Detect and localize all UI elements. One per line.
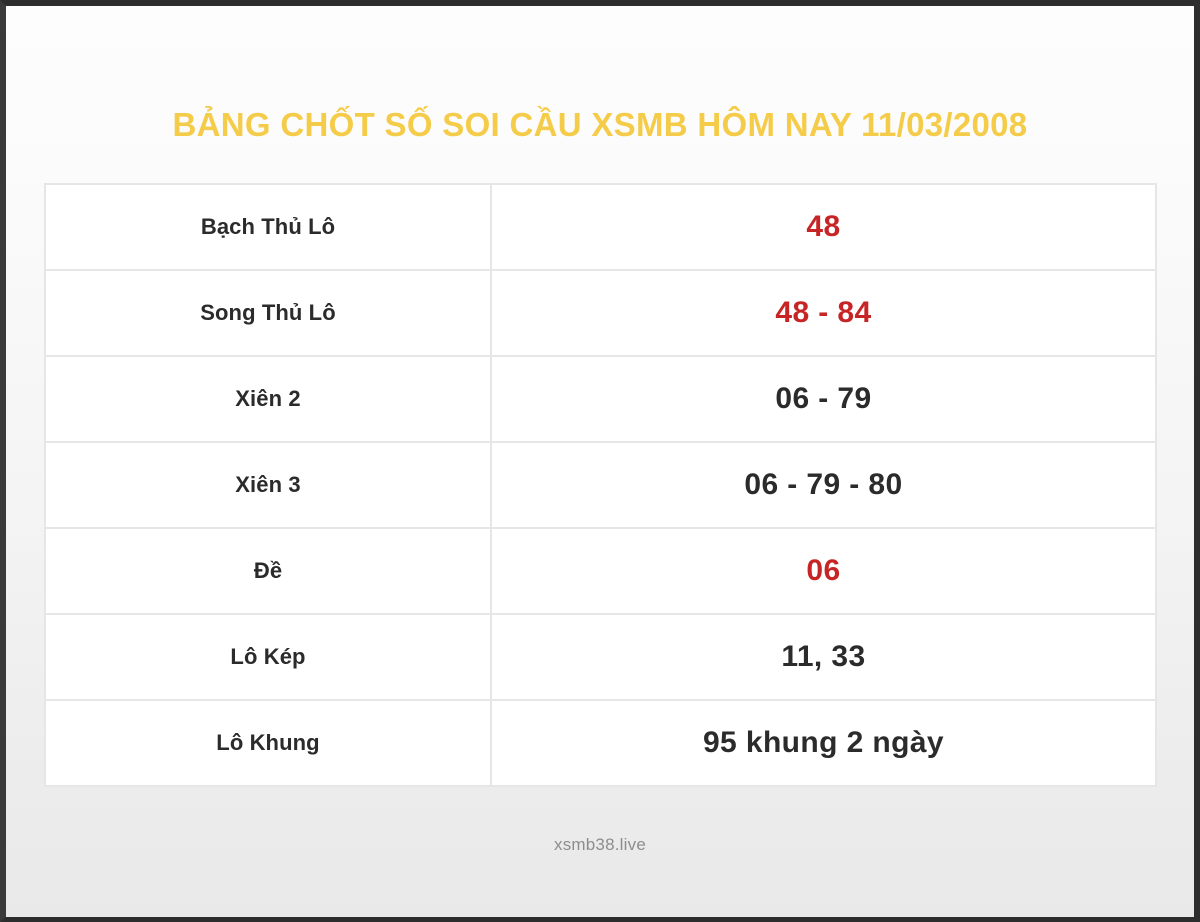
table-row: Lô Kép11, 33 — [45, 614, 1156, 700]
row-value: 06 — [491, 528, 1156, 614]
row-label: Bạch Thủ Lô — [45, 184, 491, 270]
row-label: Xiên 2 — [45, 356, 491, 442]
row-value: 48 — [491, 184, 1156, 270]
table-row: Bạch Thủ Lô48 — [45, 184, 1156, 270]
table-row: Xiên 306 - 79 - 80 — [45, 442, 1156, 528]
row-value: 11, 33 — [491, 614, 1156, 700]
page-title-text: BẢNG CHỐT SỐ SOI CẦU XSMB HÔM NAY 11/03/… — [173, 108, 1028, 141]
row-value: 95 khung 2 ngày — [491, 700, 1156, 786]
row-label: Lô Khung — [45, 700, 491, 786]
prediction-table-body: Bạch Thủ Lô48Song Thủ Lô48 - 84Xiên 206 … — [45, 184, 1156, 786]
table-row: Lô Khung95 khung 2 ngày — [45, 700, 1156, 786]
row-label: Xiên 3 — [45, 442, 491, 528]
row-label: Lô Kép — [45, 614, 491, 700]
page-title: BẢNG CHỐT SỐ SOI CẦU XSMB HÔM NAY 11/03/… — [6, 98, 1194, 150]
row-value: 06 - 79 — [491, 356, 1156, 442]
prediction-table: Bạch Thủ Lô48Song Thủ Lô48 - 84Xiên 206 … — [44, 183, 1157, 787]
table-row: Đề06 — [45, 528, 1156, 614]
footer: xsmb38.live — [6, 828, 1194, 862]
site-watermark: xsmb38.live — [554, 835, 646, 855]
table-row: Xiên 206 - 79 — [45, 356, 1156, 442]
row-value: 48 - 84 — [491, 270, 1156, 356]
table-row: Song Thủ Lô48 - 84 — [45, 270, 1156, 356]
page-frame: BẢNG CHỐT SỐ SOI CẦU XSMB HÔM NAY 11/03/… — [0, 0, 1200, 922]
row-label: Đề — [45, 528, 491, 614]
row-value: 06 - 79 - 80 — [491, 442, 1156, 528]
page-canvas: BẢNG CHỐT SỐ SOI CẦU XSMB HÔM NAY 11/03/… — [6, 6, 1194, 917]
row-label: Song Thủ Lô — [45, 270, 491, 356]
